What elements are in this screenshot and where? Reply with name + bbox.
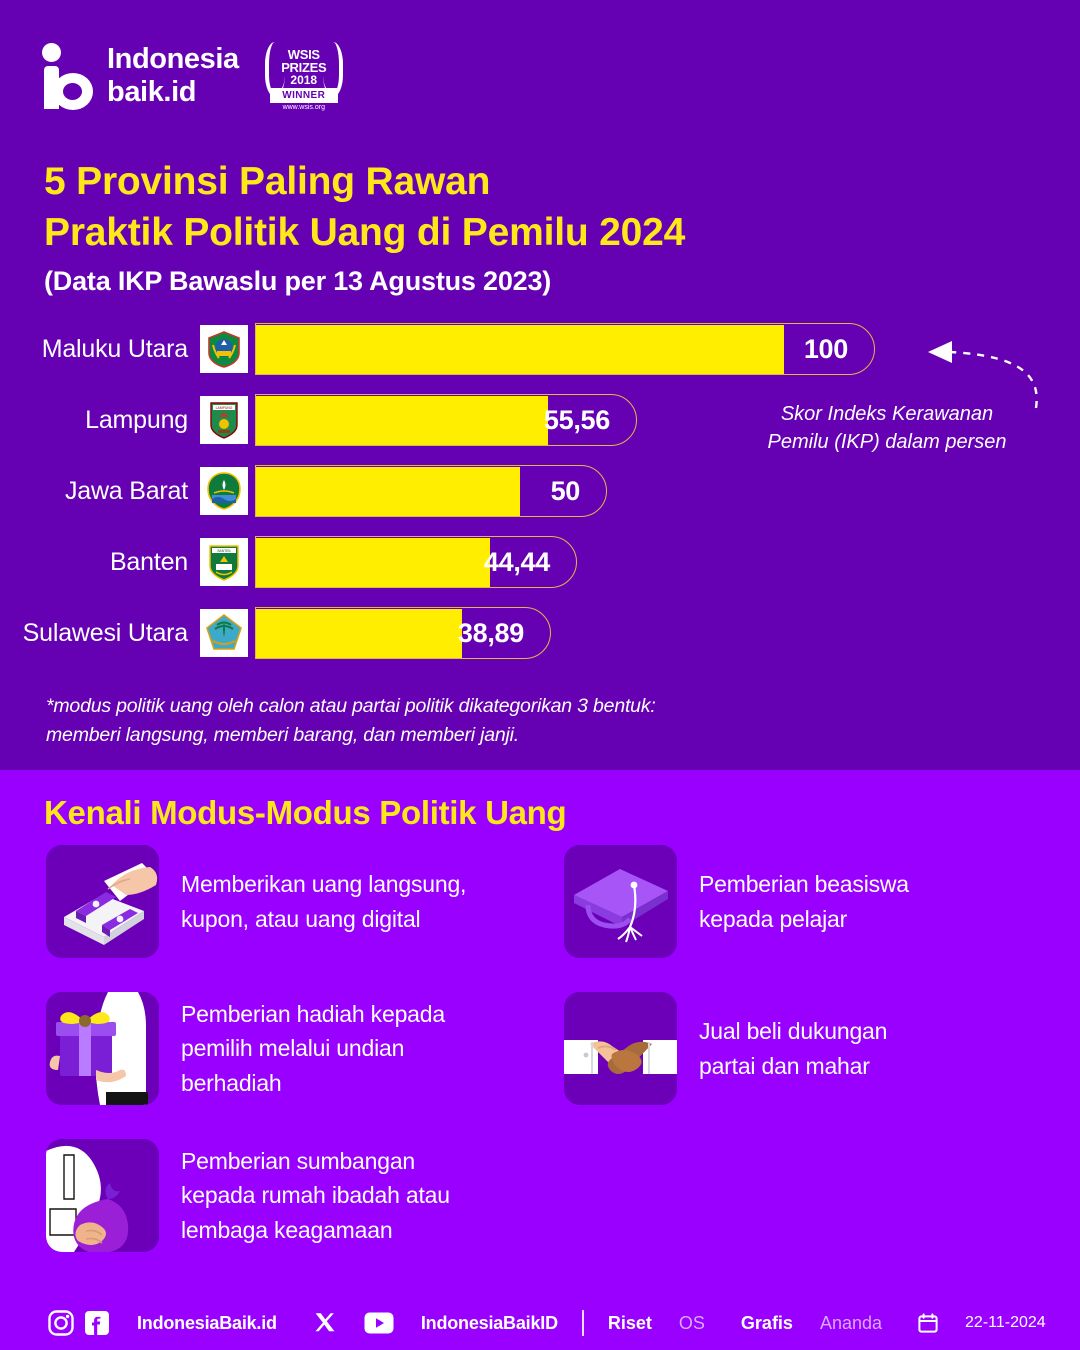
- wsis-badge-url: www.wsis.org: [263, 104, 345, 111]
- modus-text-line: Jual beli dukungan: [699, 1014, 887, 1048]
- modus-item-text: Memberikan uang langsung, kupon, atau ua…: [181, 867, 466, 935]
- bar-value-label: 100: [804, 334, 848, 365]
- chart-footnote: *modus politik uang oleh calon atau part…: [46, 692, 786, 750]
- chart-footnote-line2: memberi langsung, memberi barang, dan me…: [46, 721, 786, 750]
- bar-capsule: 44,44: [255, 536, 577, 588]
- chart-row: Banten BANTEN 44,44: [0, 533, 1080, 591]
- riset-value: OS: [679, 1313, 705, 1334]
- bar-track: 44,44: [255, 536, 577, 588]
- svg-text:LAMPUNG: LAMPUNG: [216, 406, 233, 410]
- chart-row: Jawa Barat 50: [0, 462, 1080, 520]
- brand-logo: Indonesia baik.id: [42, 43, 239, 109]
- crest-banten-icon: BANTEN: [200, 538, 248, 586]
- modus-text-line: berhadiah: [181, 1066, 445, 1100]
- grafis-label: Grafis: [741, 1313, 793, 1334]
- modus-text-line: Pemberian hadiah kepada: [181, 997, 445, 1031]
- brand-header: Indonesia baik.id WSIS PRIZES 2018 WINNE…: [42, 36, 345, 116]
- bar-category-label: Lampung: [0, 406, 200, 435]
- donation-bag-icon: [46, 1139, 159, 1252]
- riset-label: Riset: [608, 1313, 652, 1334]
- bar-category-label: Sulawesi Utara: [0, 619, 200, 648]
- page-title-line2: Praktik Politik Uang di Pemilu 2024: [44, 207, 685, 258]
- bar-category-label: Banten: [0, 548, 200, 577]
- bar-track: 55,56: [255, 394, 637, 446]
- indonesiabaik-b-logo-icon: [42, 43, 94, 109]
- bar-capsule: 50: [255, 465, 607, 517]
- modus-item-text: Pemberian beasiswa kepada pelajar: [699, 867, 909, 935]
- bar-track: 38,89: [255, 607, 551, 659]
- modus-text-line: lembaga keagamaan: [181, 1213, 450, 1247]
- wsis-badge-ribbon: WINNER: [270, 88, 338, 103]
- infographic-page: Indonesia baik.id WSIS PRIZES 2018 WINNE…: [0, 0, 1080, 1350]
- modus-item-text: Jual beli dukungan partai dan mahar: [699, 1014, 887, 1082]
- bar-value-label: 44,44: [484, 547, 550, 578]
- handshake-icon: [564, 992, 677, 1105]
- bar-track: 50: [255, 465, 607, 517]
- chart-annotation-line2: Pemilu (IKP) dalam persen: [762, 428, 1012, 456]
- page-subtitle: (Data IKP Bawaslu per 13 Agustus 2023): [44, 266, 551, 297]
- bar-capsule: 38,89: [255, 607, 551, 659]
- youtube-icon[interactable]: [364, 1312, 394, 1334]
- page-title-line1: 5 Provinsi Paling Rawan: [44, 156, 685, 207]
- modus-item-cash: Memberikan uang langsung, kupon, atau ua…: [46, 845, 466, 958]
- facebook-icon[interactable]: [84, 1310, 110, 1336]
- chart-footnote-line1: *modus politik uang oleh calon atau part…: [46, 692, 786, 721]
- crest-sulawesi-utara-icon: [200, 609, 248, 657]
- brand-name: Indonesia baik.id: [107, 43, 239, 109]
- x-twitter-icon[interactable]: [313, 1311, 337, 1335]
- modus-section: Kenali Modus-Modus Politik Uang: [0, 770, 1080, 1350]
- annotation-arrow-icon: [918, 330, 1048, 410]
- bar-fill: [256, 325, 784, 374]
- bar-category-label: Maluku Utara: [0, 335, 200, 364]
- gift-box-icon: [46, 992, 159, 1105]
- modus-item-scholarship: Pemberian beasiswa kepada pelajar: [564, 845, 909, 958]
- modus-item-text: Pemberian sumbangan kepada rumah ibadah …: [181, 1144, 450, 1246]
- bar-value-label: 55,56: [544, 405, 610, 436]
- brand-name-line2: baik.id: [107, 76, 239, 109]
- modus-item-handshake: Jual beli dukungan partai dan mahar: [564, 992, 887, 1105]
- footer-bar: IndonesiaBaik.id IndonesiaBaikID Riset O…: [0, 1296, 1080, 1350]
- modus-text-line: kupon, atau uang digital: [181, 902, 466, 936]
- bar-fill: [256, 538, 490, 587]
- modus-text-line: Pemberian sumbangan: [181, 1144, 450, 1178]
- social-handle-meta[interactable]: IndonesiaBaik.id: [137, 1313, 277, 1334]
- chart-annotation: Skor Indeks Kerawanan Pemilu (IKP) dalam…: [762, 400, 1012, 457]
- svg-text:BANTEN: BANTEN: [218, 549, 232, 553]
- brand-name-line1: Indonesia: [107, 43, 239, 76]
- modus-text-line: kepada pelajar: [699, 902, 909, 936]
- modus-item-text: Pemberian hadiah kepada pemilih melalui …: [181, 997, 445, 1099]
- modus-text-line: Pemberian beasiswa: [699, 867, 909, 901]
- modus-text-line: partai dan mahar: [699, 1049, 887, 1083]
- footer-divider: [582, 1310, 584, 1336]
- crest-jawa-barat-icon: [200, 467, 248, 515]
- cash-in-box-icon: [46, 845, 159, 958]
- publish-date: 22-11-2024: [965, 1314, 1046, 1332]
- modus-item-donation: Pemberian sumbangan kepada rumah ibadah …: [46, 1139, 450, 1252]
- bar-fill: [256, 609, 462, 658]
- bar-track: 100: [255, 323, 875, 375]
- bar-capsule: 100: [255, 323, 875, 375]
- bar-capsule: 55,56: [255, 394, 637, 446]
- wsis-badge-line3: 2018: [263, 74, 345, 86]
- top-section: Indonesia baik.id WSIS PRIZES 2018 WINNE…: [0, 0, 1080, 770]
- modus-text-line: pemilih melalui undian: [181, 1031, 445, 1065]
- modus-text-line: kepada rumah ibadah atau: [181, 1178, 450, 1212]
- crest-maluku-utara-icon: [200, 325, 248, 373]
- graduation-cap-icon: [564, 845, 677, 958]
- bar-value-label: 50: [551, 476, 580, 507]
- chart-row: Sulawesi Utara 38,89: [0, 604, 1080, 662]
- bar-value-label: 38,89: [458, 618, 524, 649]
- chart-annotation-line1: Skor Indeks Kerawanan: [762, 400, 1012, 428]
- bar-fill: [256, 396, 548, 445]
- grafis-value: Ananda: [820, 1313, 882, 1334]
- calendar-icon: [918, 1313, 938, 1333]
- bar-category-label: Jawa Barat: [0, 477, 200, 506]
- wsis-prizes-award-badge-icon: WSIS PRIZES 2018 WINNER www.wsis.org: [263, 36, 345, 116]
- modus-item-gift: Pemberian hadiah kepada pemilih melalui …: [46, 992, 445, 1105]
- page-title: 5 Provinsi Paling Rawan Praktik Politik …: [44, 156, 685, 259]
- crest-lampung-icon: LAMPUNG: [200, 396, 248, 444]
- bar-fill: [256, 467, 520, 516]
- modus-text-line: Memberikan uang langsung,: [181, 867, 466, 901]
- section-heading: Kenali Modus-Modus Politik Uang: [44, 794, 566, 832]
- social-handle-x[interactable]: IndonesiaBaikID: [421, 1313, 558, 1334]
- instagram-icon[interactable]: [48, 1310, 74, 1336]
